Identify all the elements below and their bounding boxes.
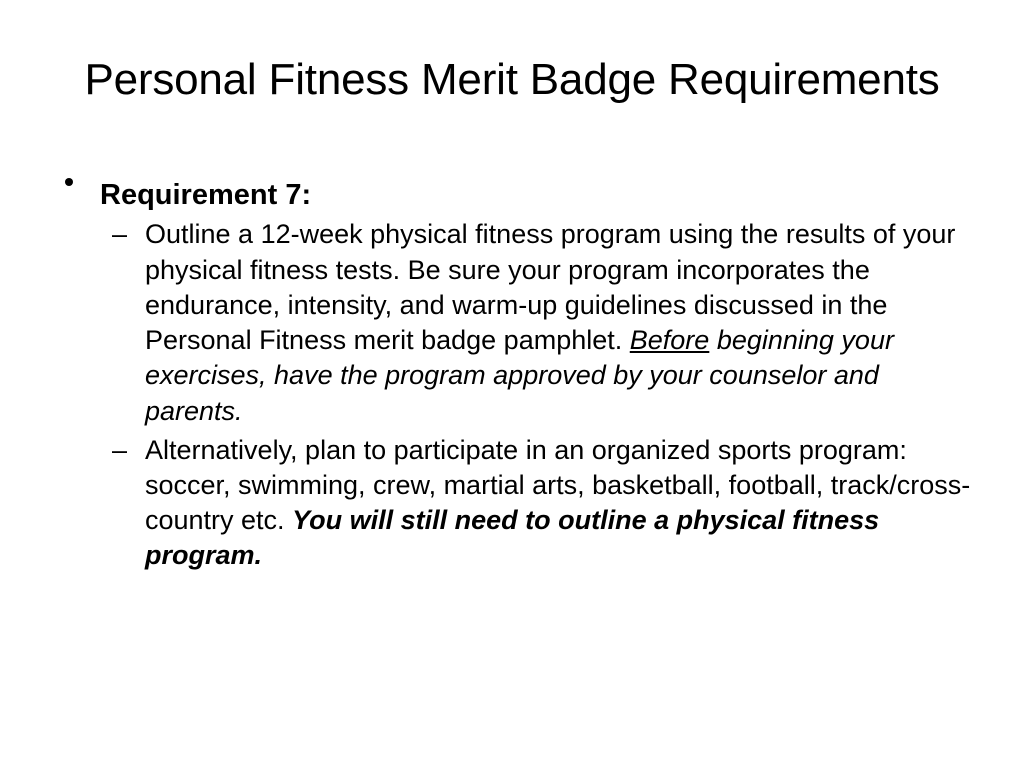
- slide-title-text: Personal Fitness Merit Badge Requirement…: [84, 55, 939, 104]
- bullet-dash-icon: –: [112, 433, 127, 468]
- list-item-level1-label: Requirement 7:: [100, 179, 311, 211]
- text-segment-italic-underline: Before: [630, 325, 710, 355]
- list-item-level2-text: Alternatively, plan to participate in an…: [145, 433, 972, 574]
- slide-title: Personal Fitness Merit Badge Requirement…: [60, 55, 964, 104]
- presentation-slide: Personal Fitness Merit Badge Requirement…: [0, 0, 1024, 768]
- bullet-dash-icon: –: [112, 217, 127, 252]
- slide-body: Requirement 7: – Outline a 12-week physi…: [52, 178, 972, 574]
- list-item-level2-text: Outline a 12-week physical fitness progr…: [145, 217, 972, 428]
- list-level2-group: – Outline a 12-week physical fitness pro…: [52, 217, 972, 573]
- list-item-level2: – Outline a 12-week physical fitness pro…: [52, 217, 972, 428]
- list-item-level2: – Alternatively, plan to participate in …: [52, 433, 972, 574]
- list-item-level1: Requirement 7:: [52, 178, 972, 213]
- bullet-dot-icon: [65, 178, 73, 186]
